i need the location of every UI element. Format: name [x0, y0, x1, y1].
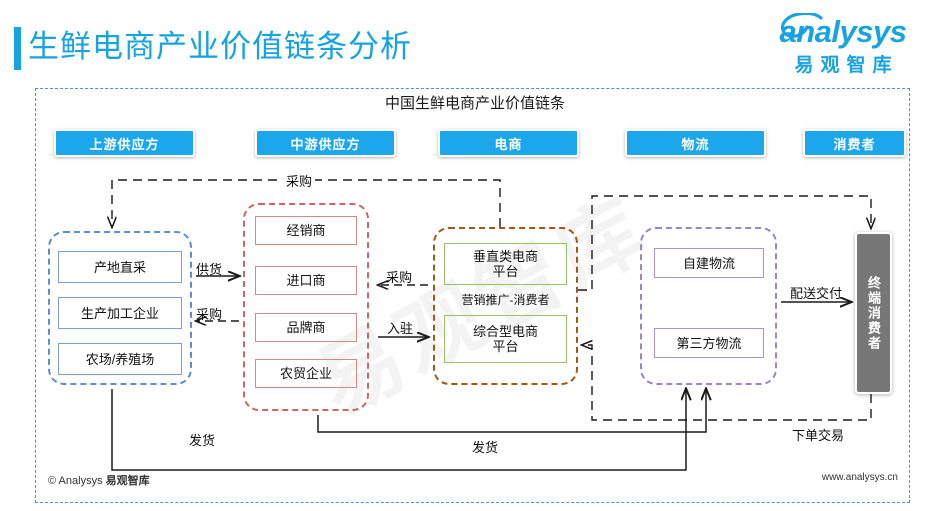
box-importer[interactable]: 进口商 [255, 266, 357, 295]
box-processing-enterprise[interactable]: 生产加工企业 [58, 297, 182, 329]
box-farm-breeding[interactable]: 农场/养殖场 [58, 343, 182, 375]
title-accent-bar [14, 27, 21, 70]
label-purchase-top: 采购 [283, 171, 315, 190]
label-purchase-mid: 采购 [383, 267, 415, 286]
logo-swirl-icon [780, 13, 824, 39]
stage-header-midstream[interactable]: 中游供应方 [255, 129, 396, 157]
slide-canvas: 生鲜电商产业价值链条分析 analysys 易观智库 中国生鲜电商产业价值链条 … [0, 0, 950, 511]
label-delivery: 配送交付 [787, 283, 845, 302]
label-ship-left: 发货 [186, 430, 218, 449]
label-marketing-consumer: 营销推广-消费者 [433, 292, 578, 308]
label-entry: 入驻 [384, 318, 416, 337]
stage-header-ecommerce[interactable]: 电商 [438, 129, 579, 157]
box-self-built-logistics[interactable]: 自建物流 [654, 248, 764, 278]
label-order: 下单交易 [789, 425, 847, 444]
footer-url[interactable]: www.analysys.cn [822, 472, 898, 483]
footer-copyright: © Analysys 易观智库 [48, 472, 150, 488]
label-purchase-upstream: 采购 [193, 304, 225, 323]
box-agricultural-trade-enterprise[interactable]: 农贸企业 [255, 359, 357, 388]
box-origin-direct-sourcing[interactable]: 产地直采 [58, 251, 182, 283]
box-vertical-ec-platform[interactable]: 垂直类电商 平台 [444, 243, 567, 285]
footer-copyright-mark: © Analysys [48, 475, 106, 487]
label-ship-right: 发货 [469, 437, 501, 456]
box-brand-owner[interactable]: 品牌商 [255, 313, 357, 342]
page-title: 生鲜电商产业价值链条分析 [28, 24, 412, 69]
diagram-title: 中国生鲜电商产业价值链条 [0, 92, 950, 113]
stage-header-logistics[interactable]: 物流 [625, 129, 766, 157]
stage-header-consumer[interactable]: 消费者 [803, 129, 906, 157]
analysys-logo: analysys 易观智库 [754, 14, 932, 80]
logo-chinese-name: 易观智库 [754, 50, 932, 77]
box-third-party-logistics[interactable]: 第三方物流 [654, 328, 764, 358]
box-comprehensive-ec-platform[interactable]: 综合型电商 平台 [444, 315, 567, 363]
box-distributor[interactable]: 经销商 [255, 216, 357, 245]
box-end-consumer[interactable]: 终端消费者 [855, 232, 892, 394]
stage-header-upstream[interactable]: 上游供应方 [54, 129, 195, 157]
label-supply: 供货 [193, 259, 225, 278]
footer-copyright-cn: 易观智库 [106, 475, 150, 487]
